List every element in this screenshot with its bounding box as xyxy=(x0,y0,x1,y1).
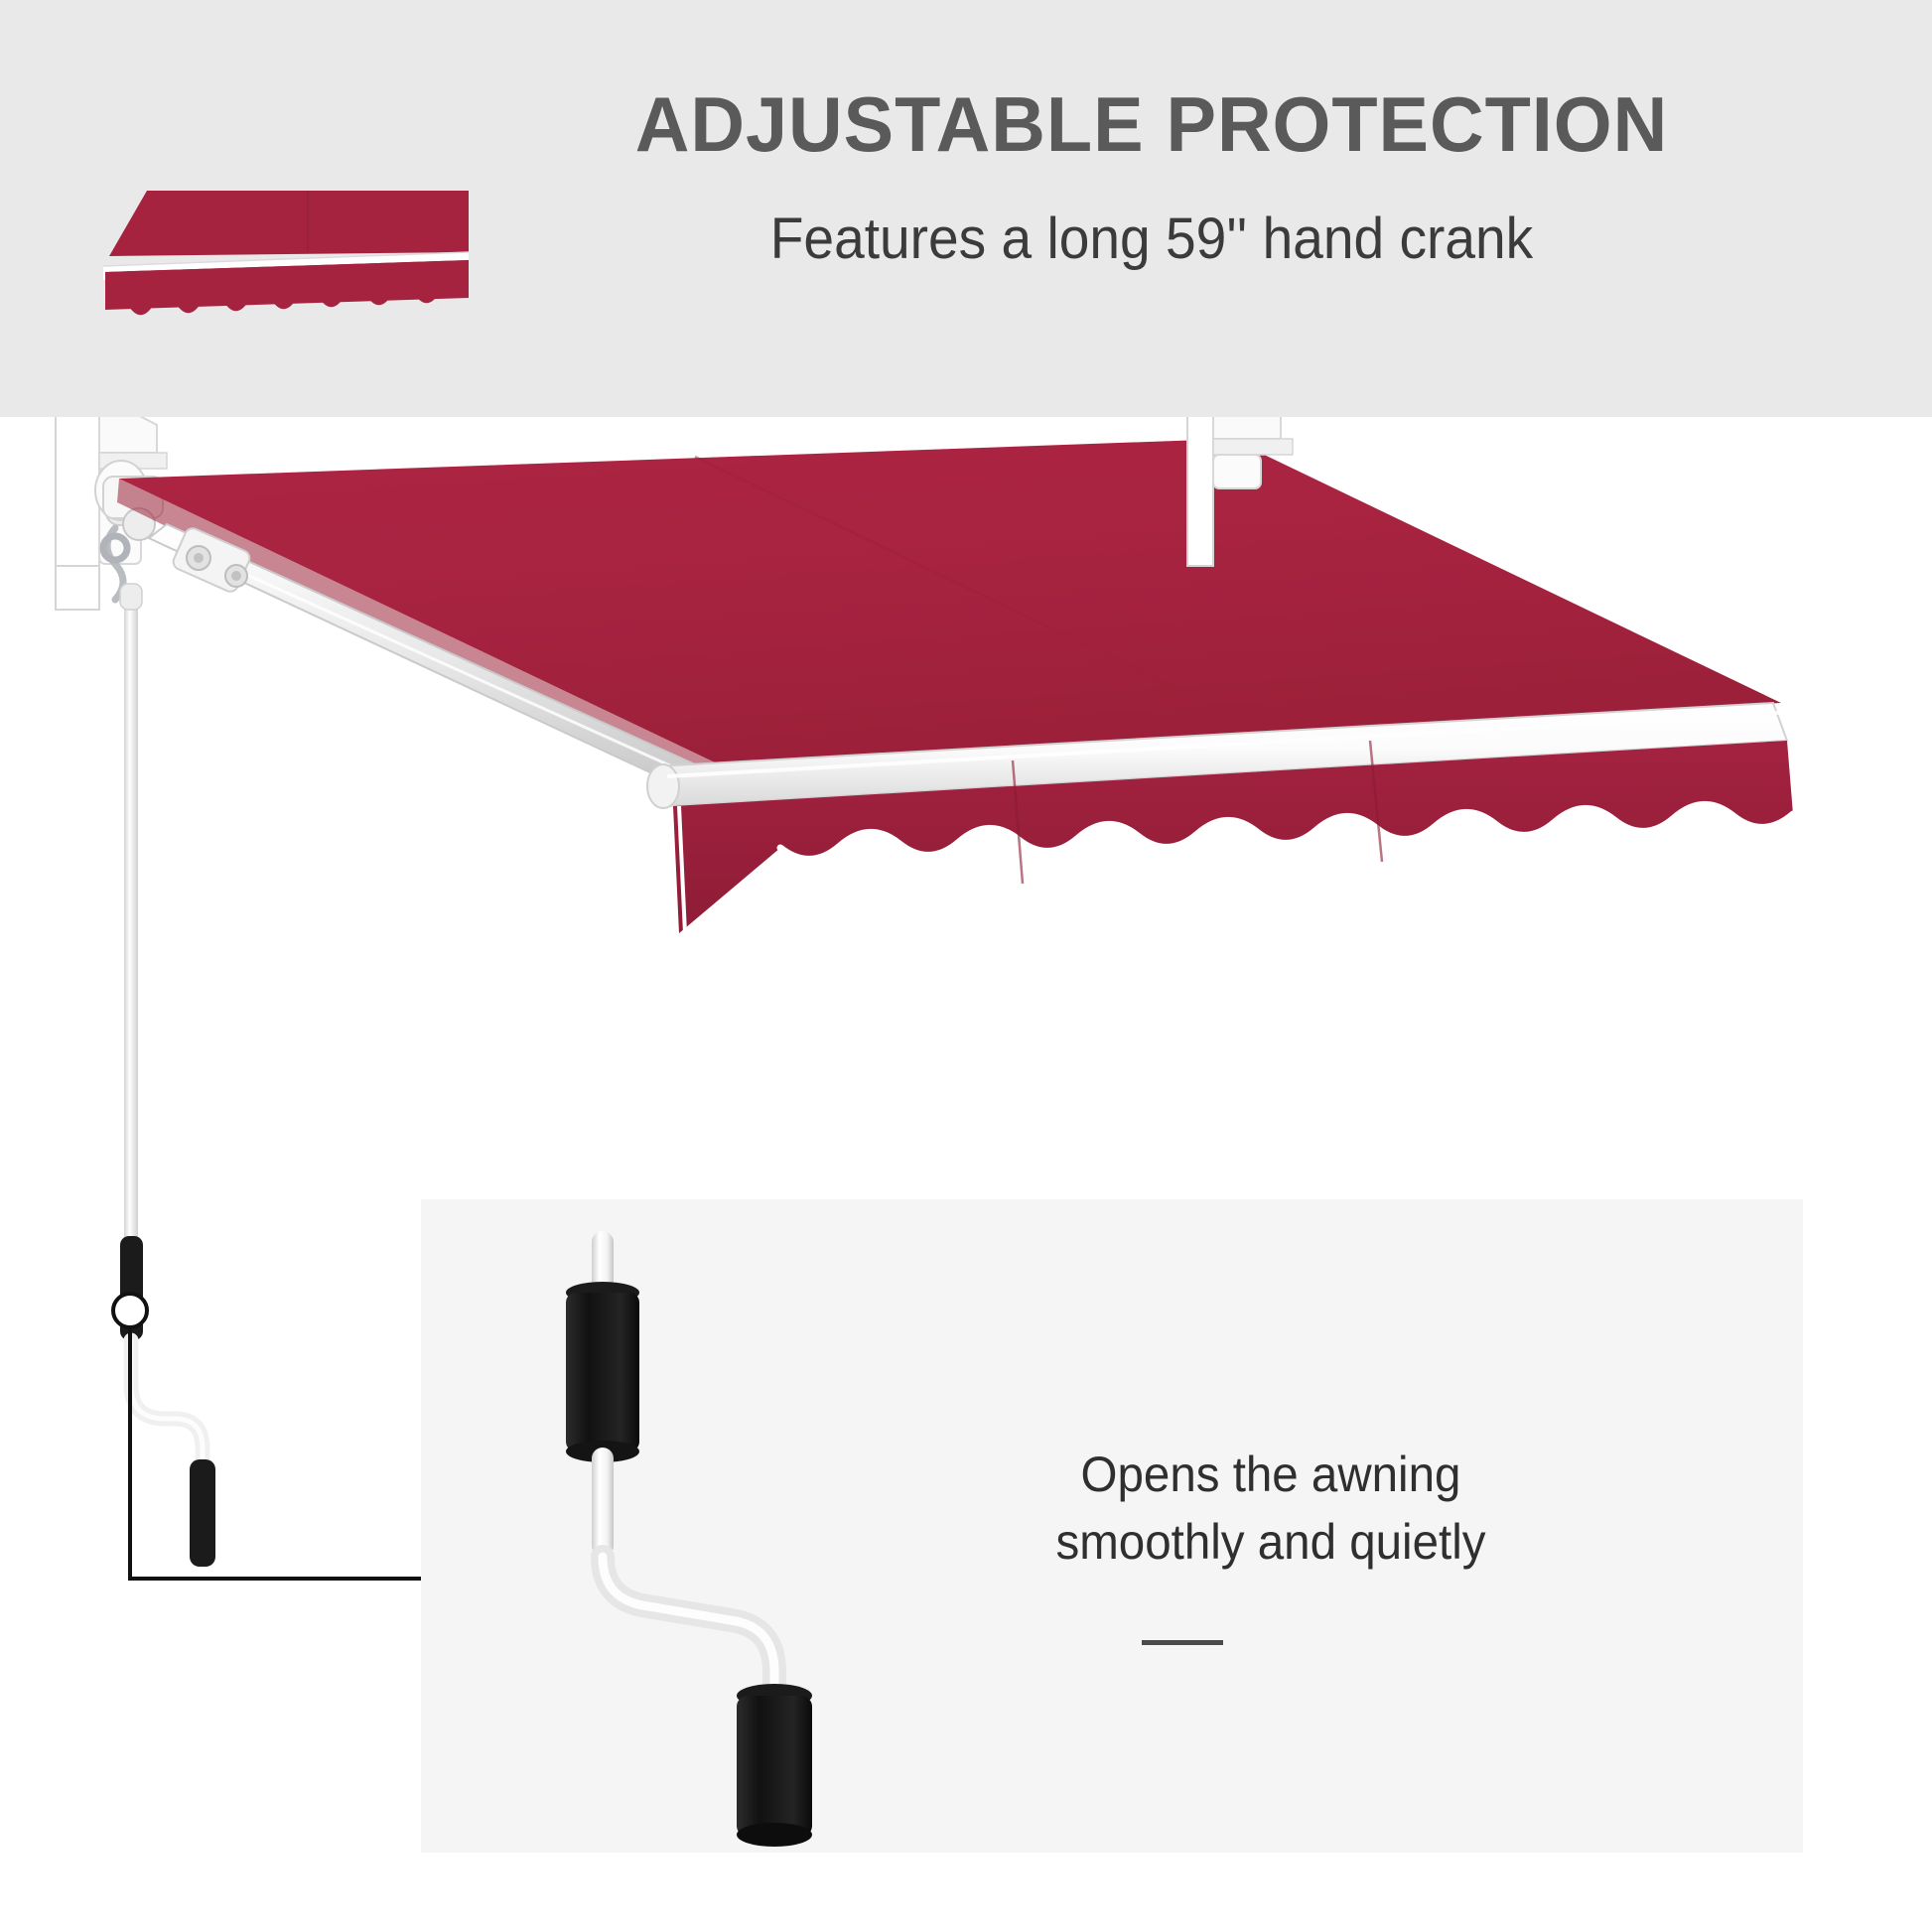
inset-caption: Opens the awning smoothly and quietly xyxy=(998,1442,1545,1576)
inset-caption-line1: Opens the awning xyxy=(998,1442,1545,1509)
crank-grip-lower xyxy=(190,1459,215,1567)
page-subtitle: Features a long 59'' hand crank xyxy=(464,207,1841,273)
crank-rod xyxy=(120,584,215,1567)
product-marketing-image: ADJUSTABLE PROTECTION Features a long 59… xyxy=(0,0,1932,1932)
crank-grip-lower xyxy=(737,1696,812,1837)
page-title: ADJUSTABLE PROTECTION xyxy=(449,85,1855,163)
inset-caption-line2: smoothly and quietly xyxy=(998,1509,1545,1577)
crank-grip-upper xyxy=(120,1236,143,1340)
hand-crank-handle xyxy=(536,1231,874,1847)
retracted-awning-thumbnail xyxy=(52,149,469,318)
inset-divider-rule xyxy=(1142,1640,1223,1645)
crank-grip-upper xyxy=(566,1293,639,1451)
